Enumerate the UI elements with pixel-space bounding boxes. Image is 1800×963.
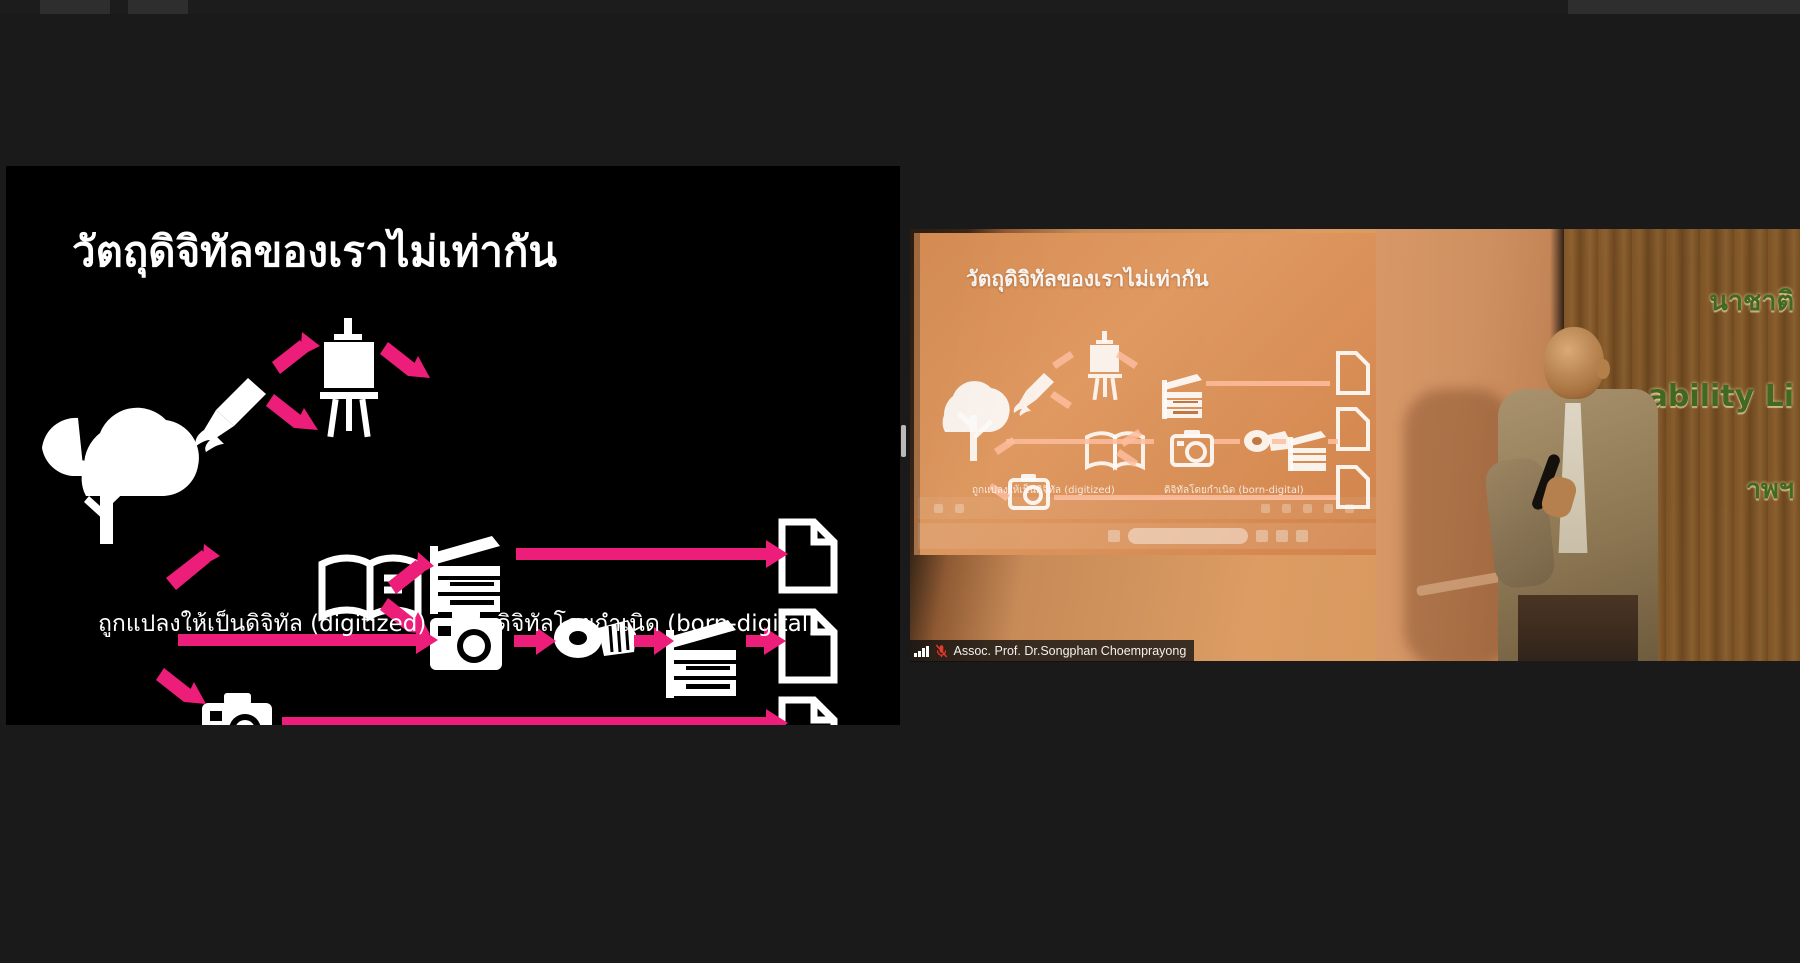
taskbar-icon — [1296, 530, 1308, 542]
document-icon-1 — [782, 522, 834, 590]
top-strip — [0, 0, 1800, 14]
control-icon — [934, 504, 943, 513]
arrow-long-scanner-doc1 — [516, 540, 788, 568]
projected-control-bar — [918, 497, 1376, 519]
speaker-person — [1470, 327, 1700, 661]
participant-name-text: Assoc. Prof. Dr.Songphan Choemprayong — [954, 644, 1187, 658]
projected-caption-born-digital: ดิจิทัลโดยกำเนิด (born-digital) — [1164, 483, 1304, 498]
control-icon — [1324, 504, 1333, 513]
banner-line-3: าพฯ — [1746, 467, 1794, 510]
document-icon-3 — [782, 700, 834, 725]
strip-segment — [40, 0, 110, 14]
arrow-tree-to-pen — [166, 544, 220, 590]
arrow-pen-to-easel — [272, 332, 320, 374]
taskbar-icon — [1256, 530, 1268, 542]
arrow-long-camera-doc3 — [282, 709, 788, 725]
banner-line-1: นาชาติ — [1709, 279, 1794, 322]
tree-icon — [42, 408, 199, 544]
caption-born-digital: ดิจิทัลโดยกำเนิด (born-digital) — [496, 606, 817, 642]
signal-bars-icon — [914, 646, 929, 657]
mic-muted-icon — [935, 644, 948, 658]
start-icon — [1108, 530, 1120, 542]
speaker-ear — [1596, 359, 1610, 379]
control-icon — [1261, 504, 1270, 513]
panel-divider-handle[interactable] — [901, 425, 906, 457]
control-icon — [1303, 504, 1312, 513]
projected-caption-digitized: ถูกแปลงให้เป็นดิจิทัล (digitized) — [972, 483, 1115, 498]
arrow-pen-to-book — [266, 394, 318, 430]
speaker-head — [1544, 327, 1604, 399]
taskbar-icon — [1276, 530, 1288, 542]
screen-root: วัตถุดิจิทัลของเราไม่เท่ากัน — [0, 0, 1800, 963]
arrow-easel-to-scanner — [380, 342, 430, 378]
participant-name-badge: Assoc. Prof. Dr.Songphan Choemprayong — [910, 640, 1194, 662]
control-icon — [1282, 504, 1291, 513]
easel-icon — [320, 318, 378, 437]
strip-segment — [1568, 0, 1800, 14]
arrow-tree-to-camera — [156, 668, 206, 704]
projected-slide: วัตถุดิจิทัลของเราไม่เท่ากัน — [914, 233, 1376, 555]
scanner-icon-1 — [430, 536, 500, 614]
camera-icon-1 — [430, 608, 502, 670]
shared-slide-panel[interactable]: วัตถุดิจิทัลของเราไม่เท่ากัน — [6, 166, 900, 725]
pen-nib-icon — [195, 378, 266, 452]
control-icon — [955, 504, 964, 513]
speaker-trousers — [1518, 595, 1638, 661]
control-icon — [1345, 504, 1354, 513]
taskbar-search — [1128, 528, 1248, 544]
speaker-video-panel[interactable]: วัตถุดิจิทัลของเราไม่เท่ากัน — [910, 229, 1800, 661]
strip-segment — [128, 0, 188, 14]
projected-taskbar — [918, 523, 1376, 549]
caption-digitized: ถูกแปลงให้เป็นดิจิทัล (digitized) — [98, 606, 426, 642]
camera-icon-2 — [202, 693, 272, 725]
